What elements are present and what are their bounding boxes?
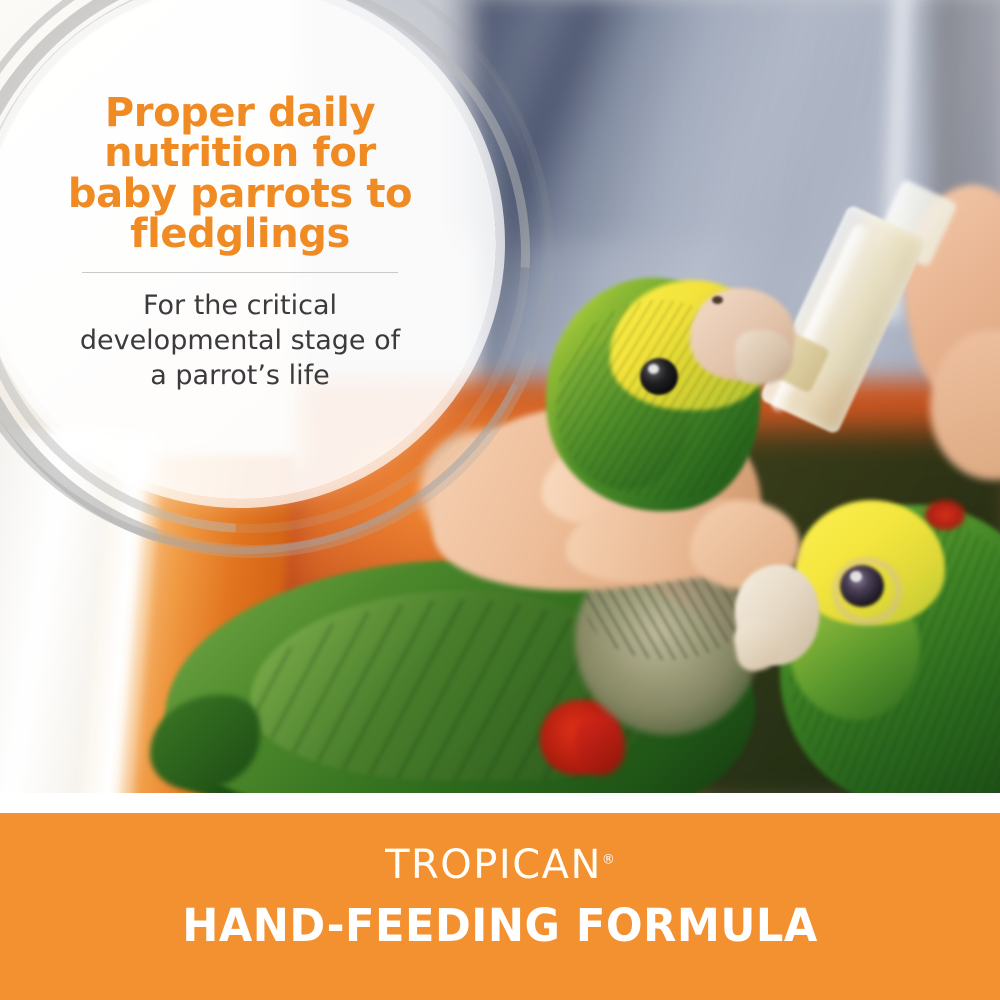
badge-headline-line-4: fledglings — [68, 214, 412, 254]
badge-headline-line-3: baby parrots to — [68, 174, 412, 214]
parrot-left-nostril — [712, 296, 723, 304]
info-badge: Proper daily nutrition for baby parrots … — [0, 0, 558, 560]
parrot-right-red-patch — [925, 500, 965, 530]
white-separator — [0, 793, 1000, 813]
badge-content: Proper daily nutrition for baby parrots … — [0, 0, 496, 499]
hero-photo: Proper daily nutrition for baby parrots … — [0, 0, 1000, 793]
badge-headline-line-1: Proper daily — [68, 93, 412, 133]
badge-subhead-line-1: For the critical — [80, 289, 400, 324]
badge-headline-line-2: nutrition for — [68, 133, 412, 173]
badge-subhead-line-2: developmental stage of — [80, 324, 400, 359]
parrot-right-eye-glint — [850, 571, 862, 582]
badge-headline: Proper daily nutrition for baby parrots … — [68, 93, 412, 255]
parrot-left-eye — [640, 358, 678, 395]
product-banner-image: Proper daily nutrition for baby parrots … — [0, 0, 1000, 1000]
badge-subhead: For the critical developmental stage of … — [80, 289, 400, 393]
brand-banner: TROPICAN® HAND-FEEDING FORMULA — [0, 813, 1000, 1000]
product-tagline: HAND-FEEDING FORMULA — [182, 903, 818, 948]
parrot-right-eye — [840, 565, 884, 607]
brand-name: TROPICAN — [385, 842, 602, 888]
badge-divider — [82, 272, 398, 273]
brand-wordmark: TROPICAN® — [385, 845, 615, 885]
badge-subhead-line-3: a parrot’s life — [80, 359, 400, 394]
parrot-left-eye-glint — [648, 364, 659, 374]
registered-trademark-icon: ® — [602, 853, 615, 868]
